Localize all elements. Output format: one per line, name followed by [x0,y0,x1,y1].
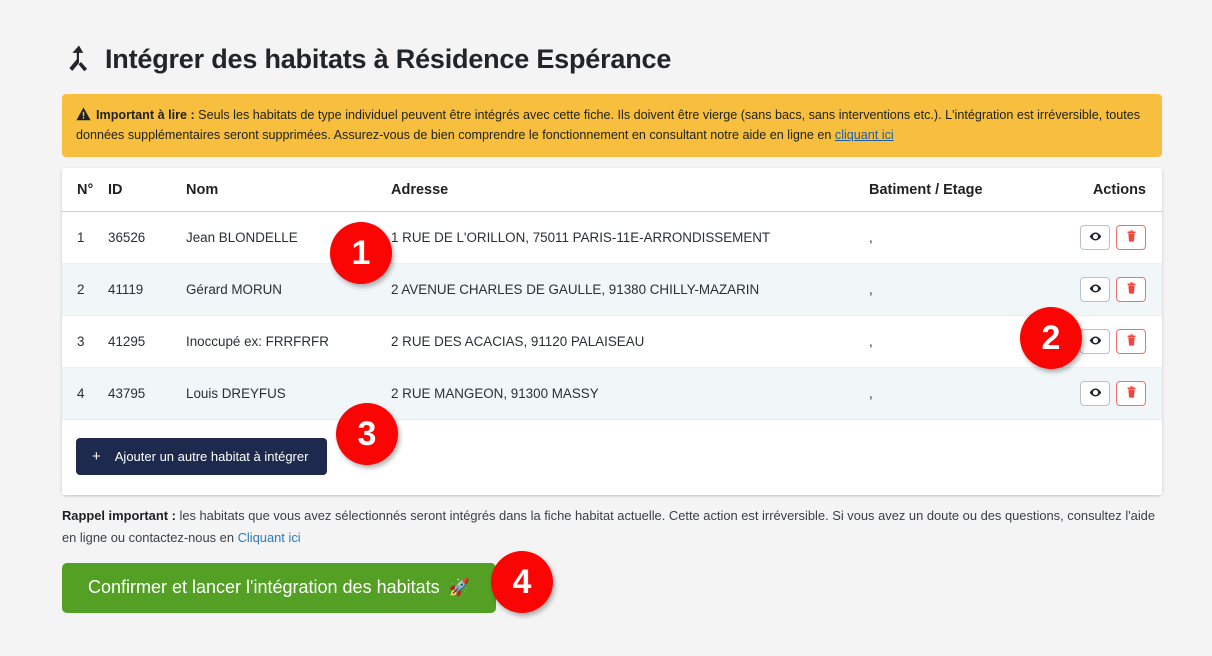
warning-triangle-icon [76,107,91,121]
plus-icon: + [92,449,101,464]
trash-icon [1127,334,1136,349]
cell-id: 36526 [100,212,178,264]
warning-label: Important à lire : [96,108,195,122]
warning-help-link[interactable]: cliquant ici [835,128,894,142]
cell-actions [1061,212,1162,264]
trash-icon [1127,282,1136,297]
step-badge-4: 4 [491,551,553,613]
cell-num: 4 [62,368,100,420]
cell-adresse: 2 RUE DES ACACIAS, 91120 PALAISEAU [383,316,861,368]
delete-habitat-button[interactable] [1116,225,1146,250]
add-another-habitat-button[interactable]: + Ajouter un autre habitat à intégrer [76,438,327,475]
card-footer: + Ajouter un autre habitat à intégrer [62,420,1162,495]
delete-habitat-button[interactable] [1116,329,1146,354]
table-row: 3 41295 Inoccupé ex: FRRFRFR 2 RUE DES A… [62,316,1162,368]
table-body: 1 36526 Jean BLONDELLE 1 RUE DE L'ORILLO… [62,212,1162,420]
step-badge-2: 2 [1020,307,1082,369]
column-header-adresse: Adresse [383,168,861,212]
cell-num: 3 [62,316,100,368]
cell-id: 41295 [100,316,178,368]
view-habitat-button[interactable] [1080,381,1110,406]
trash-icon [1127,230,1136,245]
cell-adresse: 1 RUE DE L'ORILLON, 75011 PARIS-11E-ARRO… [383,212,861,264]
trash-icon [1127,386,1136,401]
eye-icon [1089,334,1102,350]
reminder-contact-link[interactable]: Cliquant ici [238,530,301,545]
cell-actions [1061,368,1162,420]
cell-num: 1 [62,212,100,264]
eye-icon [1089,386,1102,402]
table-row: 2 41119 Gérard MORUN 2 AVENUE CHARLES DE… [62,264,1162,316]
merge-arrow-icon [64,43,94,75]
confirm-integration-label: Confirmer et lancer l'intégration des ha… [88,577,440,598]
eye-icon [1089,282,1102,298]
step-badge-3: 3 [336,403,398,465]
column-header-id: ID [100,168,178,212]
rocket-icon: 🚀 [449,579,470,596]
eye-icon [1089,230,1102,246]
reminder-body: les habitats que vous avez sélectionnés … [62,508,1155,545]
habitats-table: N° ID Nom Adresse Batiment / Etage Actio… [62,168,1162,420]
page-title-text: Intégrer des habitats à Résidence Espéra… [105,44,671,75]
table-row: 1 36526 Jean BLONDELLE 1 RUE DE L'ORILLO… [62,212,1162,264]
cell-batiment-etage: , [861,368,1061,420]
cell-actions [1061,264,1162,316]
view-habitat-button[interactable] [1080,225,1110,250]
cell-id: 41119 [100,264,178,316]
table-head: N° ID Nom Adresse Batiment / Etage Actio… [62,168,1162,212]
table-header-row: N° ID Nom Adresse Batiment / Etage Actio… [62,168,1162,212]
delete-habitat-button[interactable] [1116,381,1146,406]
step-badge-1: 1 [330,222,392,284]
column-header-num: N° [62,168,100,212]
cell-num: 2 [62,264,100,316]
important-warning-banner: Important à lire : Seuls les habitats de… [62,94,1162,157]
cell-batiment-etage: , [861,212,1061,264]
page-root: Intégrer des habitats à Résidence Espéra… [0,0,1212,656]
reminder-label: Rappel important : [62,508,176,523]
page-title: Intégrer des habitats à Résidence Espéra… [64,43,671,75]
cell-adresse: 2 AVENUE CHARLES DE GAULLE, 91380 CHILLY… [383,264,861,316]
cell-batiment-etage: , [861,264,1061,316]
column-header-batiment-etage: Batiment / Etage [861,168,1061,212]
delete-habitat-button[interactable] [1116,277,1146,302]
cell-adresse: 2 RUE MANGEON, 91300 MASSY [383,368,861,420]
view-habitat-button[interactable] [1080,277,1110,302]
warning-text: Seuls les habitats de type individuel pe… [76,108,1140,142]
reminder-text: Rappel important : les habitats que vous… [62,505,1160,549]
column-header-nom: Nom [178,168,383,212]
table-row: 4 43795 Louis DREYFUS 2 RUE MANGEON, 913… [62,368,1162,420]
view-habitat-button[interactable] [1080,329,1110,354]
column-header-actions: Actions [1061,168,1162,212]
habitats-card: N° ID Nom Adresse Batiment / Etage Actio… [62,168,1162,495]
add-another-habitat-label: Ajouter un autre habitat à intégrer [115,449,309,464]
confirm-integration-button[interactable]: Confirmer et lancer l'intégration des ha… [62,563,496,613]
cell-id: 43795 [100,368,178,420]
cell-nom: Inoccupé ex: FRRFRFR [178,316,383,368]
